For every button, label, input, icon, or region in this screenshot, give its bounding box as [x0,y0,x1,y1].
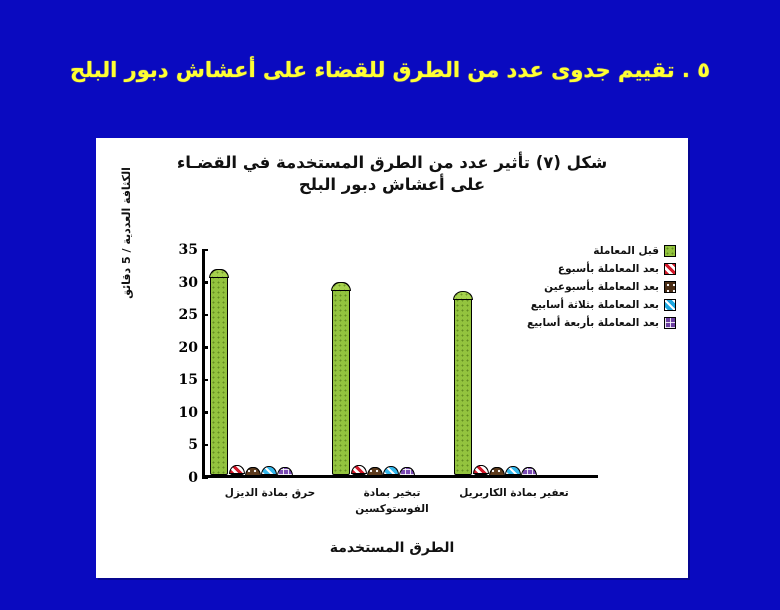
y-tick-mark [202,249,208,252]
y-tick-10: 10 [156,407,208,419]
bar-top-cap [209,269,228,278]
bar-after-week-4 [278,467,292,475]
legend-item-3[interactable]: بعد المعاملة بثلاثة أسابيع [486,296,676,313]
legend-item-1[interactable]: بعد المعاملة بأسبوع [486,260,676,277]
x-category-label-0: حرق بمادة الديزل [211,486,329,502]
y-tick-label-20: 20 [179,341,202,355]
bar-before-treatment [210,269,228,475]
y-tick-15: 15 [156,374,208,386]
legend-label-0: قبل المعاملة [593,245,659,257]
bar-after-week-3 [384,467,398,475]
x-category-text-0: حرق بمادة الديزل [225,487,316,499]
x-category-text-2: تعفير بمادة الكاربريل [459,487,569,499]
bar-before-treatment [332,282,350,475]
y-tick-label-5: 5 [188,438,202,452]
bar-top-cap [277,467,292,476]
y-tick-mark [202,476,208,479]
bar-after-week-3 [262,467,276,475]
y-tick-label-0: 0 [188,471,202,485]
bar-top-cap [489,467,504,476]
bar-top-cap [473,465,488,474]
bar-after-week-2 [246,467,260,475]
chart-title-line-2: على أعشاش دبور البلح [116,174,668,196]
x-category-label-1: تبخير بمادة الفوستوكسين [333,486,451,518]
y-axis-label: الكثافة العددية / 5 دقائق [120,158,133,308]
bar-after-week-1 [230,465,244,475]
bar-top-cap [245,467,260,476]
bar-top-cap [331,282,350,291]
y-tick-30: 30 [156,277,208,289]
y-tick-20: 20 [156,342,208,354]
bar-top-cap [261,466,276,475]
y-tick-label-35: 35 [179,243,202,257]
bar-top-cap [229,465,244,474]
slide-canvas: ٥ . تقييم جدوى عدد من الطرق للقضاء على أ… [0,0,780,610]
y-tick-label-25: 25 [179,308,202,322]
bar-top-cap [505,466,520,475]
bar-top-cap [351,465,366,474]
bar-top-cap [367,467,382,476]
y-tick-mark [202,444,208,447]
x-axis-label: الطرق المستخدمة [96,540,688,556]
y-tick-mark [202,314,208,317]
legend-swatch-icon-week3 [664,299,676,311]
legend-swatch-icon-week4 [664,317,676,329]
x-category-text-1: تبخير بمادة الفوستوكسين [355,487,428,515]
chart-legend: قبل المعاملة بعد المعاملة بأسبوع بعد الم… [486,242,676,332]
y-tick-mark [202,379,208,382]
chart-title: شكل (٧) تأثير عدد من الطرق المستخدمة في … [116,152,668,197]
legend-label-3: بعد المعاملة بثلاثة أسابيع [531,299,659,311]
bar-before-treatment [454,292,472,475]
legend-item-4[interactable]: بعد المعاملة بأربعة أسابيع [486,314,676,331]
y-tick-5: 5 [156,439,208,451]
y-tick-label-15: 15 [179,373,202,387]
bar-top-cap [453,291,472,300]
y-tick-mark [202,281,208,284]
bar-after-week-2 [368,467,382,475]
y-tick-25: 25 [156,309,208,321]
bar-after-week-1 [352,465,366,475]
chart-panel: شكل (٧) تأثير عدد من الطرق المستخدمة في … [96,138,688,578]
x-category-label-2: تعفير بمادة الكاربريل [455,486,573,502]
legend-item-0[interactable]: قبل المعاملة [486,242,676,259]
bar-after-week-2 [490,467,504,475]
bar-top-cap [521,467,536,476]
slide-heading: ٥ . تقييم جدوى عدد من الطرق للقضاء على أ… [0,58,780,82]
legend-label-4: بعد المعاملة بأربعة أسابيع [527,317,659,329]
legend-item-2[interactable]: بعد المعاملة بأسبوعين [486,278,676,295]
legend-swatch-icon-before [664,245,676,257]
legend-label-2: بعد المعاملة بأسبوعين [544,281,659,293]
y-tick-label-30: 30 [179,276,202,290]
bar-after-week-4 [522,467,536,475]
chart-title-line-1: شكل (٧) تأثير عدد من الطرق المستخدمة في … [116,152,668,174]
legend-swatch-icon-week2 [664,281,676,293]
y-tick-label-10: 10 [179,406,202,420]
bar-after-week-3 [506,467,520,475]
bar-top-cap [399,467,414,476]
y-tick-0: 0 [156,472,208,484]
legend-label-1: بعد المعاملة بأسبوع [558,263,659,275]
plot-area: 35 30 25 20 15 10 [202,250,502,478]
legend-swatch-icon-week1 [664,263,676,275]
y-tick-35: 35 [156,244,208,256]
bar-top-cap [383,466,398,475]
y-tick-mark [202,411,208,414]
bar-after-week-4 [400,467,414,475]
y-tick-mark [202,346,208,349]
bar-after-week-1 [474,465,488,475]
